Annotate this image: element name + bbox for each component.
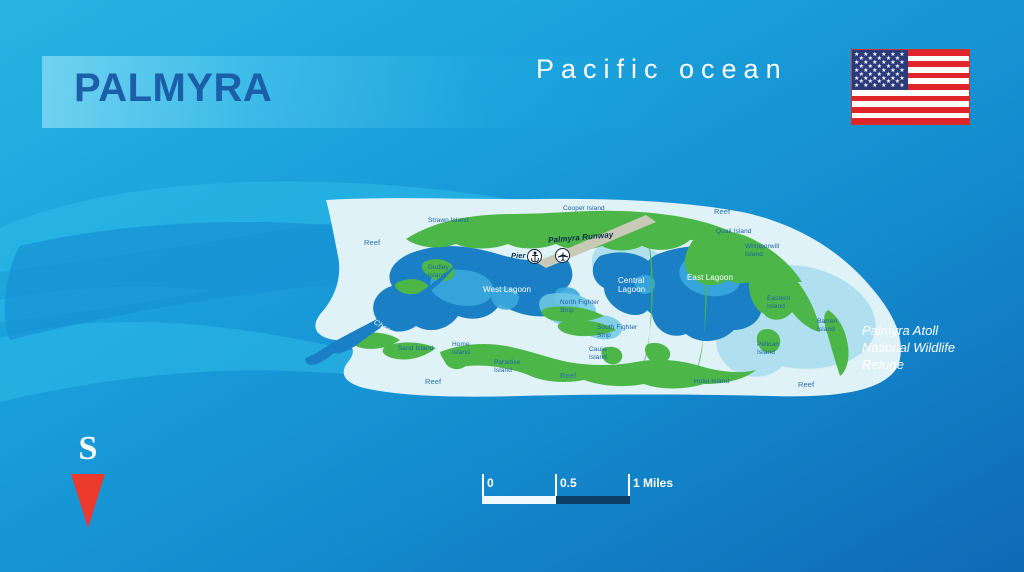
map-label-north-fighter-strip: North FighterStrip [560, 299, 599, 314]
map-label-south-fighter-strip: South FighterStrip [597, 324, 637, 339]
south-arrow-icon [71, 474, 105, 528]
scale-label-0: 0 [487, 476, 494, 490]
map-label-east-lagoon: East Lagoon [687, 273, 733, 282]
map-label-dudley-island: DudleyIsland [428, 264, 449, 279]
ocean-label: Pacific ocean [536, 54, 788, 85]
map-label-central-lagoon: CentralLagoon [618, 276, 645, 295]
page-title: PALMYRA [74, 68, 272, 108]
scale-bar: 0 0.5 1 Miles [482, 474, 630, 508]
scale-label-mid: 0.5 [560, 476, 577, 490]
scale-label-max: 1 Miles [633, 476, 673, 490]
map-label-reef-northwest: Reef [364, 239, 380, 248]
map-label-west-lagoon: West Lagoon [483, 285, 531, 294]
map-label-barren-island: BarrenIsland [817, 318, 837, 333]
map-label-reef-southwest: Reef [425, 378, 441, 387]
map-label-paradise-island: ParadiseIsland [494, 359, 520, 374]
map-label-pier: Pier [511, 252, 526, 261]
map-label-eastern-island: EasternIsland [767, 295, 790, 310]
map-label-cauia-island: CauiaIsland [589, 346, 607, 361]
map-canvas: PALMYRA Pacific ocean ★ ★ ★ ★ ★ ★ ★ ★ ★ … [0, 0, 1024, 572]
map-label-strawn-island: Strawn Island [428, 217, 469, 225]
scale-segment-light [482, 496, 556, 504]
map-label-pelican-island: PelicanIsland [757, 341, 779, 356]
map-label-reef-south: Reef [560, 372, 576, 381]
map-label-holei-island: Holei Island [694, 378, 729, 386]
map-label-whipporwill-island: WhipporwillIsland [745, 243, 779, 258]
compass-rose: S [60, 432, 116, 528]
united-states-flag: ★ ★ ★ ★ ★ ★ ★ ★ ★ ★ ★ ★ ★ ★ ★ ★ ★ ★ ★ ★ … [851, 49, 970, 125]
flag-canton: ★ ★ ★ ★ ★ ★ ★ ★ ★ ★ ★ ★ ★ ★ ★ ★ ★ ★ ★ ★ … [852, 50, 908, 90]
scale-ticks [482, 474, 630, 496]
refuge-name: Palmyra Atoll National Wildlife Refuge [862, 322, 955, 373]
map-label-reef-southeast: Reef [798, 381, 814, 390]
compass-south-label: S [60, 432, 116, 466]
map-label-quail-island: Quail Island [716, 228, 752, 236]
map-label-cooper-island: Cooper Island [563, 205, 605, 213]
map-label-sand-island: Sand Island [398, 345, 433, 353]
map-label-home-island: HomeIsland [452, 341, 470, 356]
scale-segment-dark [556, 496, 630, 504]
anchor-icon[interactable] [527, 249, 542, 264]
scale-segments [482, 496, 630, 504]
map-label-reef-northeast: Reef [714, 208, 730, 217]
airplane-icon[interactable] [555, 248, 570, 263]
